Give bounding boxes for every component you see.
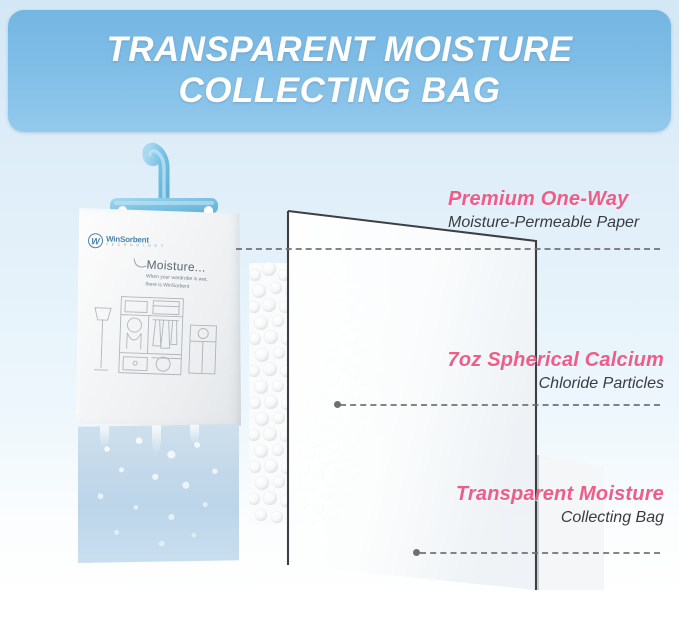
callout-2-subtitle: Chloride Particles xyxy=(416,375,664,393)
callout-2-title: 7oz Spherical Calcium xyxy=(416,349,664,372)
permeable-paper-face: W WinSorbent T E C H N O L O G Y Moistur… xyxy=(76,208,241,426)
leader-line-1 xyxy=(236,248,660,250)
brand-logo: W WinSorbent T E C H N O L O G Y xyxy=(88,233,165,250)
callout-1-title: Premium One-Way xyxy=(448,188,639,211)
callout-premium-one-way: Premium One-Way Moisture-Permeable Paper xyxy=(448,188,639,232)
callout-3-title: Transparent Moisture xyxy=(414,483,664,506)
callout-1-subtitle: Moisture-Permeable Paper xyxy=(448,214,639,232)
wardrobe-illustration xyxy=(89,294,232,385)
callout-transparent-bag: Transparent Moisture Collecting Bag xyxy=(414,483,664,527)
logo-subtitle: T E C H N O L O G Y xyxy=(106,243,165,248)
leader-dot-2 xyxy=(334,401,341,408)
leader-line-2 xyxy=(340,404,660,406)
page-title: TRANSPARENT MOISTURE COLLECTING BAG xyxy=(88,30,590,112)
hanger-icon xyxy=(104,128,232,220)
feather-icon xyxy=(133,256,146,269)
collected-water xyxy=(78,424,239,563)
moisture-absorber-bag: W WinSorbent T E C H N O L O G Y Moistur… xyxy=(76,208,241,563)
bag-subtext: When your wardrobe is wet, there is WinS… xyxy=(145,273,238,293)
callout-3-subtitle: Collecting Bag xyxy=(414,509,664,527)
transparent-bag-panel xyxy=(286,205,606,590)
header-banner: TRANSPARENT MOISTURE COLLECTING BAG xyxy=(8,10,671,132)
bag-headline-block: Moisture... When your wardrobe is wet, t… xyxy=(145,257,239,293)
leader-dot-3 xyxy=(413,549,420,556)
infographic-canvas: TRANSPARENT MOISTURE COLLECTING BAG W Wi… xyxy=(0,0,679,628)
callout-calcium-particles: 7oz Spherical Calcium Chloride Particles xyxy=(416,349,664,393)
leader-line-3 xyxy=(420,552,660,554)
logo-mark-icon: W xyxy=(88,233,103,248)
